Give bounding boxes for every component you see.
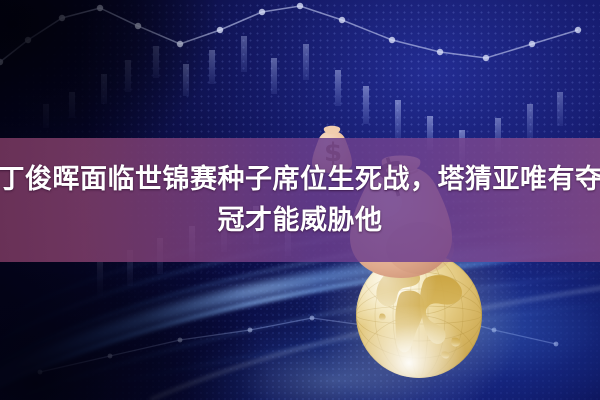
banner-image: $ $ 丁俊晖面临世锦赛种子席位生死战，塔猜亚唯有夺 冠才能威胁他 [0,0,600,400]
headline-line-2: 冠才能威胁他 [218,201,383,240]
page-title: 丁俊晖面临世锦赛种子席位生死战，塔猜亚唯有夺 冠才能威胁他 [0,138,600,262]
headline-line-1: 丁俊晖面临世锦赛种子席位生死战，塔猜亚唯有夺 [0,160,600,199]
